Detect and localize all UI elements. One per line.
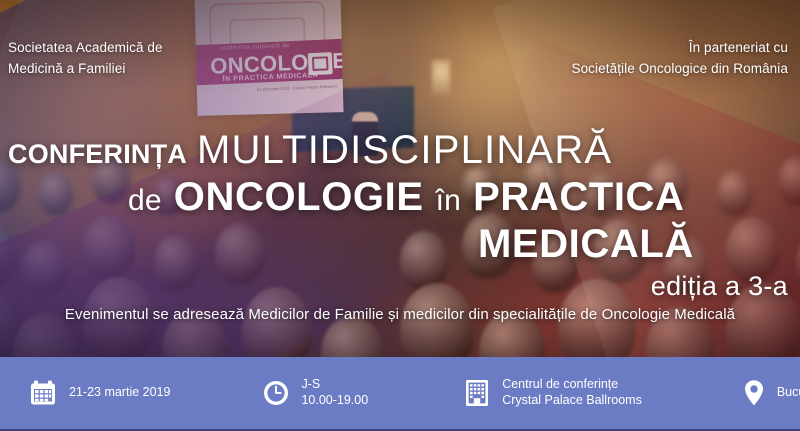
info-time-text: J-S 10.00-19.00 (301, 377, 368, 408)
info-city-line-1: București (777, 385, 800, 401)
organizer-left-line-1: Societatea Academică de (8, 38, 163, 59)
info-venue-line-2: Crystal Palace Ballrooms (502, 393, 642, 409)
info-item-city: București (742, 378, 800, 408)
title-word-oncologie: ONCOLOGIE (174, 175, 424, 220)
conference-poster: conferința națională de ONCOLOGIE ÎN PRA… (0, 0, 800, 431)
info-date-text: 21-23 martie 2019 (69, 385, 170, 401)
title-line-3: MEDICALĂ (0, 222, 800, 267)
info-item-date: 21-23 martie 2019 (28, 378, 170, 408)
tagline: Evenimentul se adresează Medicilor de Fa… (0, 306, 800, 323)
clock-icon (262, 379, 290, 407)
info-venue-line-1: Centrul de conferințe (502, 377, 642, 393)
organizer-left: Societatea Academică de Medicină a Famil… (8, 38, 163, 80)
info-item-venue: Centrul de conferințe Crystal Palace Bal… (463, 377, 642, 408)
info-time-line-1: J-S (301, 377, 368, 393)
title-word-practica: PRACTICA (473, 175, 684, 220)
organizer-left-line-2: Medicină a Familiei (8, 59, 163, 80)
building-icon (463, 378, 491, 408)
title-line-1: CONFERINȚA MULTIDISCIPLINARĂ (0, 128, 800, 173)
page-title: CONFERINȚA MULTIDISCIPLINARĂ de ONCOLOGI… (0, 128, 800, 302)
organizer-right: În parteneriat cu Societățile Oncologice… (571, 38, 788, 80)
calendar-icon (28, 378, 58, 408)
organizer-right-line-1: În parteneriat cu (571, 38, 788, 59)
title-word-in: în (436, 184, 461, 218)
title-word-conferinta: CONFERINȚA (8, 139, 187, 170)
info-venue-text: Centrul de conferințe Crystal Palace Bal… (502, 377, 642, 408)
info-date-line-1: 21-23 martie 2019 (69, 385, 170, 401)
info-time-line-2: 10.00-19.00 (301, 393, 368, 409)
title-edition: ediția a 3-a (651, 271, 788, 302)
map-pin-icon (742, 378, 766, 408)
info-city-text: București (777, 385, 800, 401)
organizer-right-line-2: Societățile Oncologice din România (571, 59, 788, 80)
title-word-multidisciplinara: MULTIDISCIPLINARĂ (197, 128, 612, 173)
title-word-medicala: MEDICALĂ (478, 222, 694, 267)
info-bar: 21-23 martie 2019 J-S 10.00-19.00 (0, 357, 800, 431)
title-line-2: de ONCOLOGIE în PRACTICA (0, 175, 800, 220)
title-word-de: de (128, 184, 162, 218)
title-line-4: ediția a 3-a (0, 271, 800, 302)
info-item-time: J-S 10.00-19.00 (262, 377, 368, 408)
